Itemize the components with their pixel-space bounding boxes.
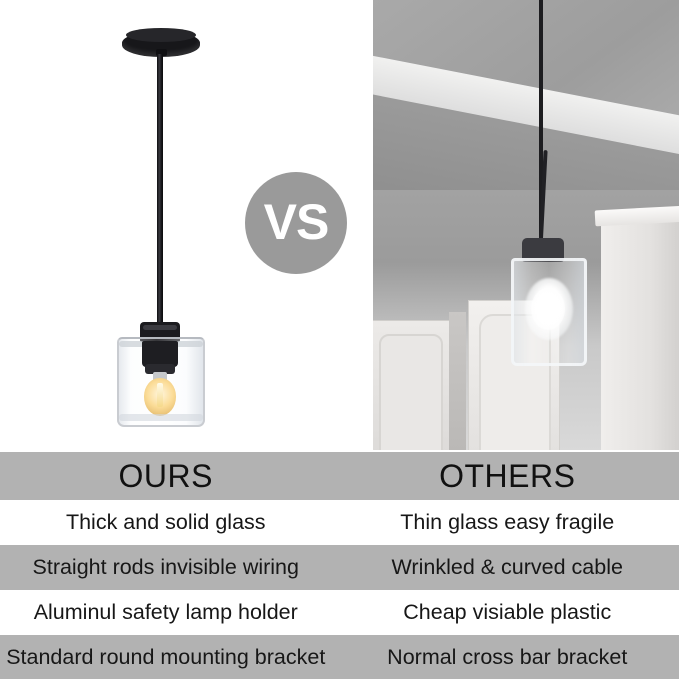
header-ours: OURS <box>0 458 336 495</box>
comparison-table: OURS OTHERS Thick and solid glass Thin g… <box>0 452 679 679</box>
vs-badge: VS <box>245 172 347 274</box>
table-row: Aluminul safety lamp holder Cheap visiab… <box>0 590 679 635</box>
others-product-photo <box>373 0 679 450</box>
bulb-glare <box>531 288 565 330</box>
cell-ours-3: Aluminul safety lamp holder <box>0 600 336 625</box>
bulb-filament <box>157 383 163 407</box>
table-row: Thick and solid glass Thin glass easy fr… <box>0 500 679 545</box>
comparison-infographic: VS OURS OTHERS <box>0 0 679 679</box>
cabinet-column <box>601 215 679 450</box>
table-row: Standard round mounting bracket Normal c… <box>0 635 679 679</box>
cell-others-3: Cheap visiable plastic <box>338 600 678 625</box>
header-others: OTHERS <box>338 458 678 495</box>
cell-ours-1: Thick and solid glass <box>0 510 336 535</box>
cell-ours-2: Straight rods invisible wiring <box>0 555 336 580</box>
glass-bottom-rim <box>119 414 203 421</box>
ceiling-canopy-top <box>126 28 196 42</box>
table-row: Straight rods invisible wiring Wrinkled … <box>0 545 679 590</box>
cabinet-left-panel <box>379 334 443 450</box>
pendant-rod <box>157 54 163 326</box>
cell-others-4: Normal cross bar bracket <box>338 645 678 670</box>
image-comparison-area: VS <box>0 0 679 452</box>
cell-ours-4: Standard round mounting bracket <box>0 645 336 670</box>
vs-label: VS <box>264 197 329 247</box>
cabinet-gap <box>449 312 466 450</box>
cell-others-2: Wrinkled & curved cable <box>338 555 678 580</box>
cell-others-1: Thin glass easy fragile <box>338 510 678 535</box>
table-header-row: OURS OTHERS <box>0 452 679 500</box>
socket-cap-highlight <box>143 325 177 330</box>
